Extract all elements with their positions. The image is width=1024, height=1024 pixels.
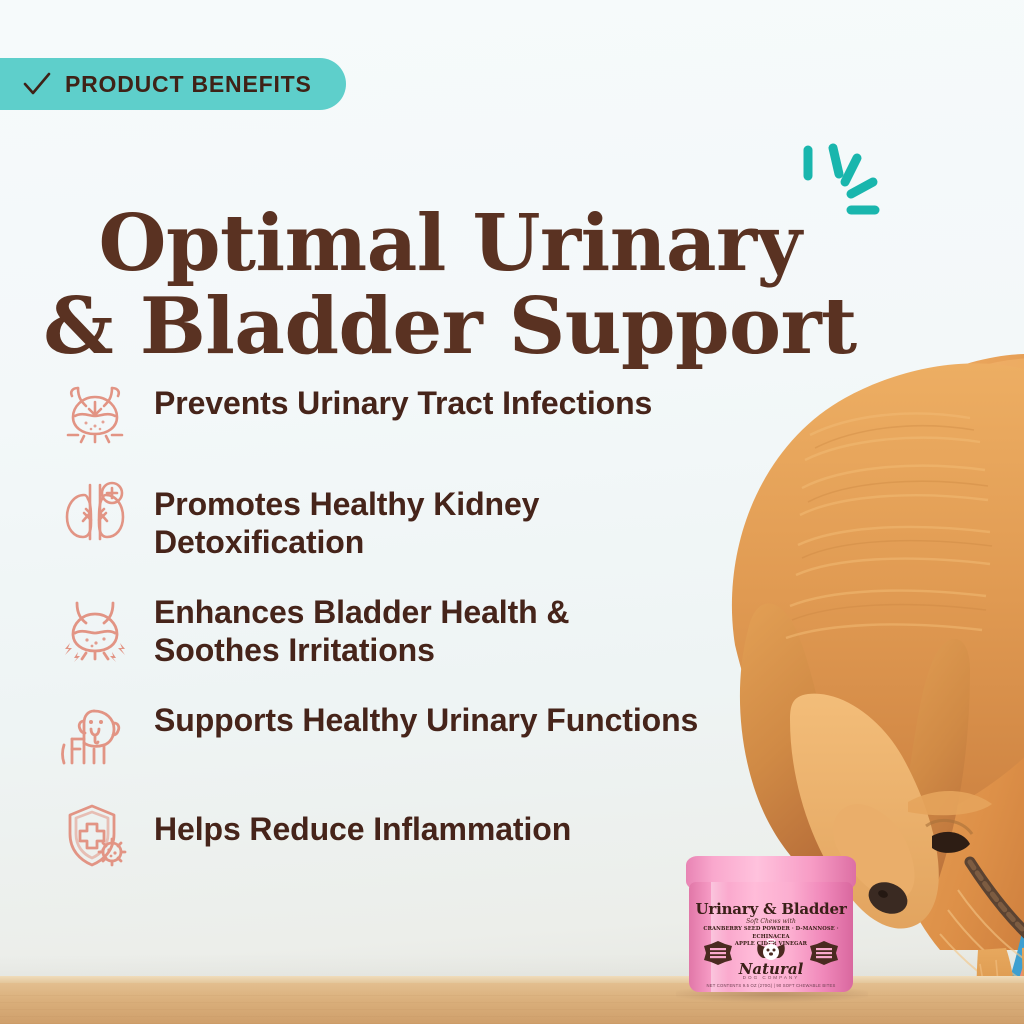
shelf-edge: [0, 976, 1024, 983]
bladder-irritation-icon: [58, 589, 132, 663]
page-title: Optimal Urinary & Bladder Support: [0, 206, 900, 365]
product-benefits-badge: PRODUCT BENEFITS: [0, 58, 346, 110]
jar-body: Urinary & Bladder Soft Chews with CRANBE…: [689, 882, 853, 992]
shelf-grain: [0, 995, 1024, 1024]
jar-product-subtitle: Soft Chews with: [689, 918, 853, 925]
benefit-item: Helps Reduce Inflammation: [58, 798, 778, 872]
badge-label: PRODUCT BENEFITS: [65, 71, 312, 98]
benefit-item: Supports Healthy Urinary Functions: [58, 697, 778, 771]
benefit-label: Promotes Healthy Kidney Detoxification: [154, 473, 539, 562]
headline-line-2: & Bladder Support: [0, 289, 900, 365]
benefit-label: Enhances Bladder Health & Soothes Irrita…: [154, 589, 569, 670]
benefit-item: Enhances Bladder Health & Soothes Irrita…: [58, 589, 778, 670]
benefit-label: Prevents Urinary Tract Infections: [154, 372, 652, 422]
jar-product-title: Urinary & Bladder: [689, 900, 853, 918]
check-icon: [22, 71, 52, 97]
sparkle-burst-icon: [795, 138, 895, 238]
dog-urinating-icon: [58, 697, 132, 771]
headline-line-1: Optimal Urinary: [99, 198, 802, 289]
benefit-label: Supports Healthy Urinary Functions: [154, 697, 698, 739]
benefit-item: Prevents Urinary Tract Infections: [58, 372, 778, 446]
bladder-arrow-icon: [58, 372, 132, 446]
product-benefits-infographic: PRODUCT BENEFITS Optimal Urinary & Bladd…: [0, 0, 1024, 1024]
benefit-label: Helps Reduce Inflammation: [154, 798, 571, 848]
benefit-item: Promotes Healthy Kidney Detoxification: [58, 473, 778, 562]
kidneys-plus-icon: [58, 473, 132, 547]
product-jar: Urinary & Bladder Soft Chews with CRANBE…: [686, 856, 856, 992]
shield-cross-germ-icon: [58, 798, 132, 872]
jar-brand-subtitle: DOG COMPANY: [689, 975, 853, 980]
jar-net-contents: NET CONTENTS 9.5 OZ (270G) | 90 SOFT CHE…: [689, 983, 853, 988]
benefits-list: Prevents Urinary Tract Infections Promot…: [58, 372, 778, 899]
